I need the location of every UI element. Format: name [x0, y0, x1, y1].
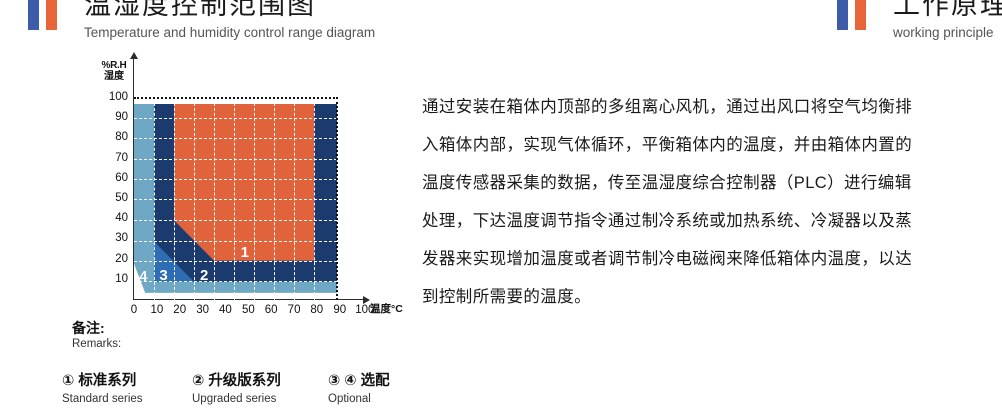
y-tick: 90 — [98, 112, 128, 123]
header-text-group-2: 工作原理 working principle — [893, 0, 1002, 42]
x-tick: 100 — [355, 304, 374, 317]
legend-marker-1: ① — [62, 373, 74, 389]
legend-label-2-cn: 升级版系列 — [208, 373, 281, 389]
temperature-humidity-chart-panel: 温湿度控制范围图 Temperature and humidity contro… — [0, 0, 415, 414]
header-accent-bars — [28, 0, 57, 30]
legend-item-optional-cn: ③ ④ 选配 — [328, 372, 390, 391]
chart-title-en: Temperature and humidity control range d… — [84, 24, 375, 42]
y-tick: 20 — [98, 254, 128, 265]
legend-label-3-cn: 选配 — [361, 373, 390, 389]
remarks-block: 备注: Remarks: ① 标准系列 Standard series ② 升级… — [0, 318, 415, 414]
y-tick: 80 — [98, 132, 128, 143]
y-tick: 50 — [98, 193, 128, 204]
y-axis-caption-rh: %R.H — [96, 60, 132, 71]
header-accent-bars-2 — [837, 0, 866, 30]
x-tick: 10 — [150, 304, 163, 317]
body-line: 处理，下达温度调节指令通过制冷系统或加热系统、冷凝器以及蒸 — [422, 202, 992, 240]
y-axis-arrow-icon — [130, 52, 138, 59]
remarks-title-en: Remarks: — [72, 337, 121, 352]
chart-region-label-4: 4 — [139, 269, 147, 284]
x-axis-arrow-icon — [363, 296, 370, 304]
legend-marker-3: ③ ④ — [328, 373, 357, 389]
chart-region-label-3: 3 — [159, 268, 167, 283]
chart-region-label-2: 2 — [200, 268, 208, 283]
principle-title-en: working principle — [893, 24, 1002, 42]
legend-marker-2: ② — [192, 373, 204, 389]
x-tick: 40 — [219, 304, 232, 317]
x-tick: 30 — [196, 304, 209, 317]
principle-body-text: 通过安装在箱体内顶部的多组离心风机，通过出风口将空气均衡排 入箱体内部，实现气体… — [422, 88, 992, 316]
x-tick: 80 — [310, 304, 323, 317]
legend-item-standard-cn: ① 标准系列 — [62, 372, 143, 391]
boundary-dotted-top — [134, 97, 338, 99]
boundary-dotted-right — [336, 97, 338, 300]
accent-bar-blue-icon — [837, 0, 848, 30]
y-axis-ticks: 100 90 80 70 60 50 40 30 20 10 — [96, 98, 128, 300]
x-axis-caption: 温度°C — [370, 304, 403, 315]
y-tick: 60 — [98, 173, 128, 184]
body-line: 入箱体内部，实现气体循环，平衡箱体内的温度，并由箱体内置的 — [422, 126, 992, 164]
body-line: 温度传感器采集的数据，传至温湿度综合控制器（PLC）进行编辑 — [422, 164, 992, 202]
legend-label-1-cn: 标准系列 — [78, 373, 136, 389]
x-tick: 50 — [242, 304, 255, 317]
legend-label-3-en: Optional — [328, 392, 390, 407]
chart-region-label-1: 1 — [241, 245, 249, 260]
x-tick: 70 — [288, 304, 301, 317]
x-tick: 0 — [131, 304, 137, 317]
legend-item-optional: ③ ④ 选配 Optional — [328, 372, 390, 407]
legend-item-upgraded-cn: ② 升级版系列 — [192, 372, 281, 391]
legend-item-upgraded: ② 升级版系列 Upgraded series — [192, 372, 281, 407]
accent-bar-orange-icon — [855, 0, 866, 30]
y-tick: 100 — [98, 92, 128, 103]
legend-label-2-en: Upgraded series — [192, 392, 281, 407]
chart-title-cn: 温湿度控制范围图 — [84, 0, 375, 22]
principle-title-cn: 工作原理 — [893, 0, 1002, 22]
chart-plot-area: 1 2 3 4 — [134, 98, 337, 300]
working-principle-panel: 工作原理 working principle 通过安装在箱体内顶部的多组离心风机… — [415, 0, 1002, 414]
y-axis-caption-cn: 湿度 — [96, 71, 132, 82]
body-line: 通过安装在箱体内顶部的多组离心风机，通过出风口将空气均衡排 — [422, 88, 992, 126]
y-tick: 10 — [98, 274, 128, 285]
accent-bar-blue-icon — [28, 0, 39, 30]
control-range-chart: %R.H 湿度 温度°C — [0, 48, 415, 316]
header-text-group: 温湿度控制范围图 Temperature and humidity contro… — [84, 0, 375, 42]
y-tick: 70 — [98, 153, 128, 164]
legend-label-1-en: Standard series — [62, 392, 143, 407]
x-tick: 60 — [265, 304, 278, 317]
y-tick: 40 — [98, 213, 128, 224]
y-axis-caption: %R.H 湿度 — [96, 60, 132, 82]
x-tick: 20 — [173, 304, 186, 317]
x-tick: 90 — [333, 304, 346, 317]
accent-bar-orange-icon — [46, 0, 57, 30]
remarks-title-cn: 备注: — [72, 320, 105, 337]
y-tick: 30 — [98, 233, 128, 244]
legend-item-standard: ① 标准系列 Standard series — [62, 372, 143, 407]
body-line: 到控制所需要的温度。 — [422, 278, 992, 316]
body-line: 发器来实现增加温度或者调节制冷电磁阀来降低箱体内温度，以达 — [422, 240, 992, 278]
